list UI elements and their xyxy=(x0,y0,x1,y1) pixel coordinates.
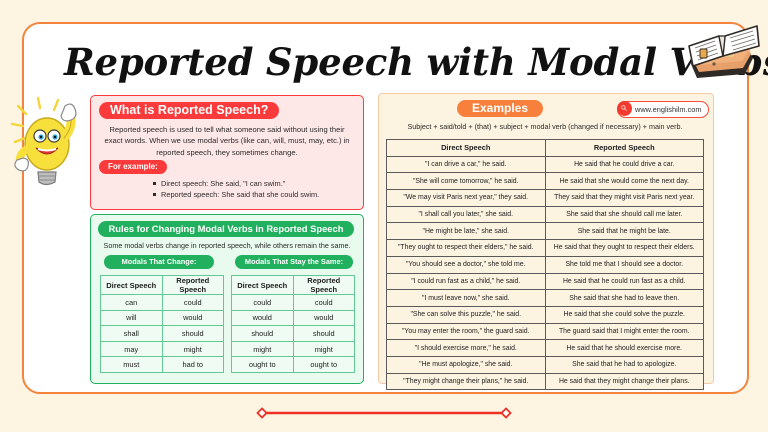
table-header-row: Direct Speech Reported Speech xyxy=(387,140,704,157)
modals-change-table: Direct Speech Reported Speech can could … xyxy=(100,275,224,373)
cell-reported: She said that he had to apologize. xyxy=(545,356,704,373)
cell-direct: "He might be late," she said. xyxy=(387,223,546,240)
cell-direct: "She can solve this puzzle," he said. xyxy=(387,306,546,323)
table-row: must had to xyxy=(101,357,224,373)
cell-reported: He said that she could solve the puzzle. xyxy=(545,306,704,323)
definition-panel: What is Reported Speech? Reported speech… xyxy=(90,95,364,210)
table-row: "We may visit Paris next year," they sai… xyxy=(387,190,704,207)
modals-same-table: Direct Speech Reported Speech could coul… xyxy=(231,275,355,373)
cell: could xyxy=(162,295,224,311)
table-row: would would xyxy=(232,310,355,326)
cell-reported: She told me that I should see a doctor. xyxy=(545,256,704,273)
cell: might xyxy=(293,341,355,357)
diamond-divider xyxy=(252,406,516,418)
column-header: Reported Speech xyxy=(545,140,704,157)
table-header-row: Direct Speech Reported Speech xyxy=(232,276,355,295)
website-badge[interactable]: www.englishilm.com xyxy=(617,101,709,118)
cell-reported: He said that they might change their pla… xyxy=(545,373,704,390)
cell-direct: "I could run fast as a child," he said. xyxy=(387,273,546,290)
table-row: shall should xyxy=(101,326,224,342)
column-header: Direct Speech xyxy=(387,140,546,157)
cell-reported: The guard said that I might enter the ro… xyxy=(545,323,704,340)
table-row: "I could run fast as a child," he said. … xyxy=(387,273,704,290)
examples-table: Direct Speech Reported Speech "I can dri… xyxy=(386,139,704,390)
table-row: "He must apologize," she said. She said … xyxy=(387,356,704,373)
table-row: "I can drive a car," he said. He said th… xyxy=(387,156,704,173)
column-header: Direct Speech xyxy=(101,276,163,295)
table-row: "You may enter the room," the guard said… xyxy=(387,323,704,340)
examples-heading: Examples xyxy=(457,100,543,117)
cell: ought to xyxy=(293,357,355,373)
table-row: "You should see a doctor," she told me. … xyxy=(387,256,704,273)
cell: might xyxy=(162,341,224,357)
cell-reported: She said that he might be late. xyxy=(545,223,704,240)
table-row: can could xyxy=(101,295,224,311)
cell: should xyxy=(232,326,294,342)
list-item: Direct speech: She said, "I can swim." xyxy=(153,178,353,189)
cell-direct: "She will come tomorrow," he said. xyxy=(387,173,546,190)
cell-direct: "I must leave now," she said. xyxy=(387,290,546,307)
search-icon xyxy=(617,101,632,116)
cell: could xyxy=(232,295,294,311)
cell: would xyxy=(293,310,355,326)
website-url: www.englishilm.com xyxy=(635,102,702,117)
for-example-label: For example: xyxy=(99,160,167,174)
definition-heading: What is Reported Speech? xyxy=(99,102,279,119)
table-row: "She will come tomorrow," he said. He sa… xyxy=(387,173,704,190)
modals-that-stay-label: Modals That Stay the Same: xyxy=(235,255,353,269)
rules-subtitle: Some modal verbs change in reported spee… xyxy=(99,241,355,251)
table-header-row: Direct Speech Reported Speech xyxy=(101,276,224,295)
table-row: ought to ought to xyxy=(232,357,355,373)
cell: would xyxy=(232,310,294,326)
cell: would xyxy=(162,310,224,326)
cell-direct: "They might change their plans," he said… xyxy=(387,373,546,390)
cell: can xyxy=(101,295,163,311)
cell-direct: "I should exercise more," he said. xyxy=(387,340,546,357)
cell-direct: "He must apologize," she said. xyxy=(387,356,546,373)
cell-reported: She said that she had to leave then. xyxy=(545,290,704,307)
table-row: "I should exercise more," he said. He sa… xyxy=(387,340,704,357)
rules-panel: Rules for Changing Modal Verbs in Report… xyxy=(90,214,364,384)
examples-formula: Subject + said/told + (that) + subject +… xyxy=(387,122,703,132)
cell-direct: "I shall call you later," she said. xyxy=(387,206,546,223)
cell: ought to xyxy=(232,357,294,373)
cell-direct: "You should see a doctor," she told me. xyxy=(387,256,546,273)
modals-that-change-label: Modals That Change: xyxy=(104,255,214,269)
cell-direct: "You may enter the room," the guard said… xyxy=(387,323,546,340)
cell: should xyxy=(293,326,355,342)
table-row: "He might be late," she said. She said t… xyxy=(387,223,704,240)
cell-reported: He said that he could drive a car. xyxy=(545,156,704,173)
cell: may xyxy=(101,341,163,357)
cell-reported: He said that they ought to respect their… xyxy=(545,240,704,257)
cell-direct: "We may visit Paris next year," they sai… xyxy=(387,190,546,207)
table-row: "I must leave now," she said. She said t… xyxy=(387,290,704,307)
rules-heading: Rules for Changing Modal Verbs in Report… xyxy=(98,221,354,237)
table-row: could could xyxy=(232,295,355,311)
cell-direct: "I can drive a car," he said. xyxy=(387,156,546,173)
table-row: should should xyxy=(232,326,355,342)
column-header: Reported Speech xyxy=(162,276,224,295)
definition-examples: Direct speech: She said, "I can swim." R… xyxy=(153,178,353,200)
cell: shall xyxy=(101,326,163,342)
cell-reported: He said that he could run fast as a chil… xyxy=(545,273,704,290)
table-row: "She can solve this puzzle," he said. He… xyxy=(387,306,704,323)
table-row: might might xyxy=(232,341,355,357)
column-header: Direct Speech xyxy=(232,276,294,295)
stacked-books-icon xyxy=(681,8,765,92)
cell: should xyxy=(162,326,224,342)
cell: might xyxy=(232,341,294,357)
cell-reported: He said that she would come the next day… xyxy=(545,173,704,190)
page-title: Reported Speech with Modal Verbs xyxy=(64,36,664,88)
lightbulb-mascot-icon xyxy=(4,86,88,198)
table-row: may might xyxy=(101,341,224,357)
table-row: "They ought to respect their elders," he… xyxy=(387,240,704,257)
cell-direct: "They ought to respect their elders," he… xyxy=(387,240,546,257)
cell: must xyxy=(101,357,163,373)
cell-reported: They said that they might visit Paris ne… xyxy=(545,190,704,207)
list-item: Reported speech: She said that she could… xyxy=(153,189,353,200)
cell-reported: She said that she should call me later. xyxy=(545,206,704,223)
cell: had to xyxy=(162,357,224,373)
cell: will xyxy=(101,310,163,326)
cell-reported: He said that he should exercise more. xyxy=(545,340,704,357)
column-header: Reported Speech xyxy=(293,276,355,295)
table-row: will would xyxy=(101,310,224,326)
definition-body: Reported speech is used to tell what som… xyxy=(102,124,352,158)
infographic-page: Reported Speech with Modal Verbs xyxy=(0,0,768,432)
table-row: "They might change their plans," he said… xyxy=(387,373,704,390)
table-row: "I shall call you later," she said. She … xyxy=(387,206,704,223)
examples-panel: Examples www.englishilm.com Subject + sa… xyxy=(378,93,714,384)
cell: could xyxy=(293,295,355,311)
